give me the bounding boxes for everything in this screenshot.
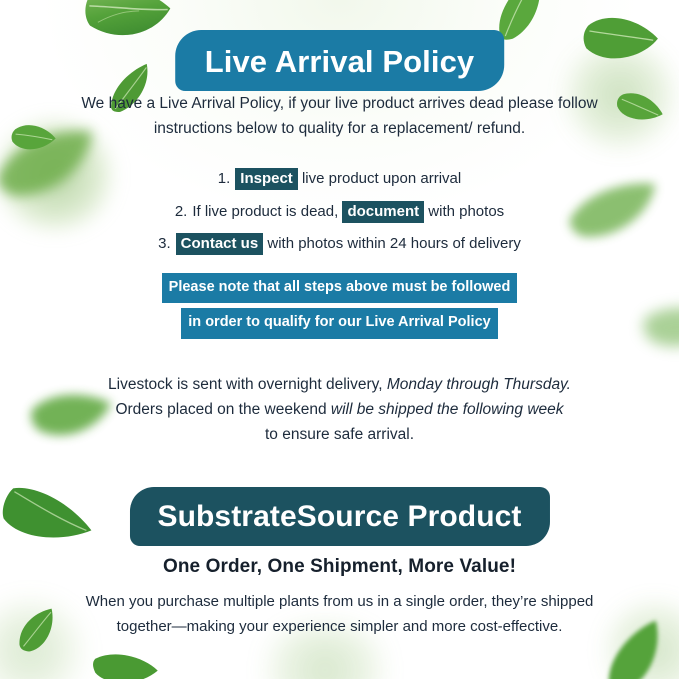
live-arrival-policy-infographic: Live Arrival Policy We have a Live Arriv… bbox=[0, 0, 679, 679]
step-text-before: If live product is dead, bbox=[192, 203, 342, 220]
step-number: 3. bbox=[158, 235, 171, 252]
shipping-line1-italic: Monday through Thursday. bbox=[387, 376, 571, 393]
policy-note-line-1: Please note that all steps above must be… bbox=[162, 273, 518, 303]
list-item: 1.Inspect live product upon arrival bbox=[60, 163, 620, 196]
value-headline: One Order, One Shipment, More Value! bbox=[40, 556, 640, 578]
live-arrival-policy-banner: Live Arrival Policy bbox=[175, 30, 505, 91]
step-highlight: Inspect bbox=[235, 168, 298, 190]
step-text-after: with photos bbox=[424, 203, 504, 220]
infographic-content: Live Arrival Policy We have a Live Arriv… bbox=[0, 0, 679, 679]
steps-list: 1.Inspect live product upon arrival 2.If… bbox=[60, 163, 620, 261]
shipping-line2-italic: will be shipped the following week bbox=[331, 401, 564, 418]
intro-line2: instructions below to quality for a repl… bbox=[154, 120, 525, 137]
substratesource-product-banner: SubstrateSource Product bbox=[129, 487, 549, 546]
list-item: 2.If live product is dead, document with… bbox=[60, 196, 620, 229]
list-item: 3.Contact us with photos within 24 hours… bbox=[60, 228, 620, 261]
step-number: 1. bbox=[218, 170, 231, 187]
policy-note-line-2: in order to qualify for our Live Arrival… bbox=[181, 308, 497, 338]
step-highlight: document bbox=[342, 201, 424, 223]
step-text-after: live product upon arrival bbox=[298, 170, 461, 187]
shipping-line2-text: Orders placed on the weekend bbox=[115, 401, 330, 418]
value-body-line2: together—making your experience simpler … bbox=[117, 618, 563, 635]
intro-line1-bold: We have a Live Arrival Policy bbox=[81, 95, 279, 112]
step-number: 2. bbox=[175, 203, 188, 220]
value-body-paragraph: When you purchase multiple plants from u… bbox=[70, 590, 610, 640]
policy-note-block: Please note that all steps above must be… bbox=[60, 273, 620, 344]
intro-line1-rest: , if your live product arrives dead plea… bbox=[280, 95, 598, 112]
shipping-line3: to ensure safe arrival. bbox=[265, 426, 414, 443]
step-highlight: Contact us bbox=[176, 233, 264, 255]
value-body-line1: When you purchase multiple plants from u… bbox=[86, 593, 594, 610]
shipping-schedule-paragraph: Livestock is sent with overnight deliver… bbox=[60, 372, 620, 447]
intro-paragraph: We have a Live Arrival Policy, if your l… bbox=[70, 91, 610, 141]
shipping-line1-text: Livestock is sent with overnight deliver… bbox=[108, 376, 387, 393]
step-text-after: with photos within 24 hours of delivery bbox=[263, 235, 521, 252]
